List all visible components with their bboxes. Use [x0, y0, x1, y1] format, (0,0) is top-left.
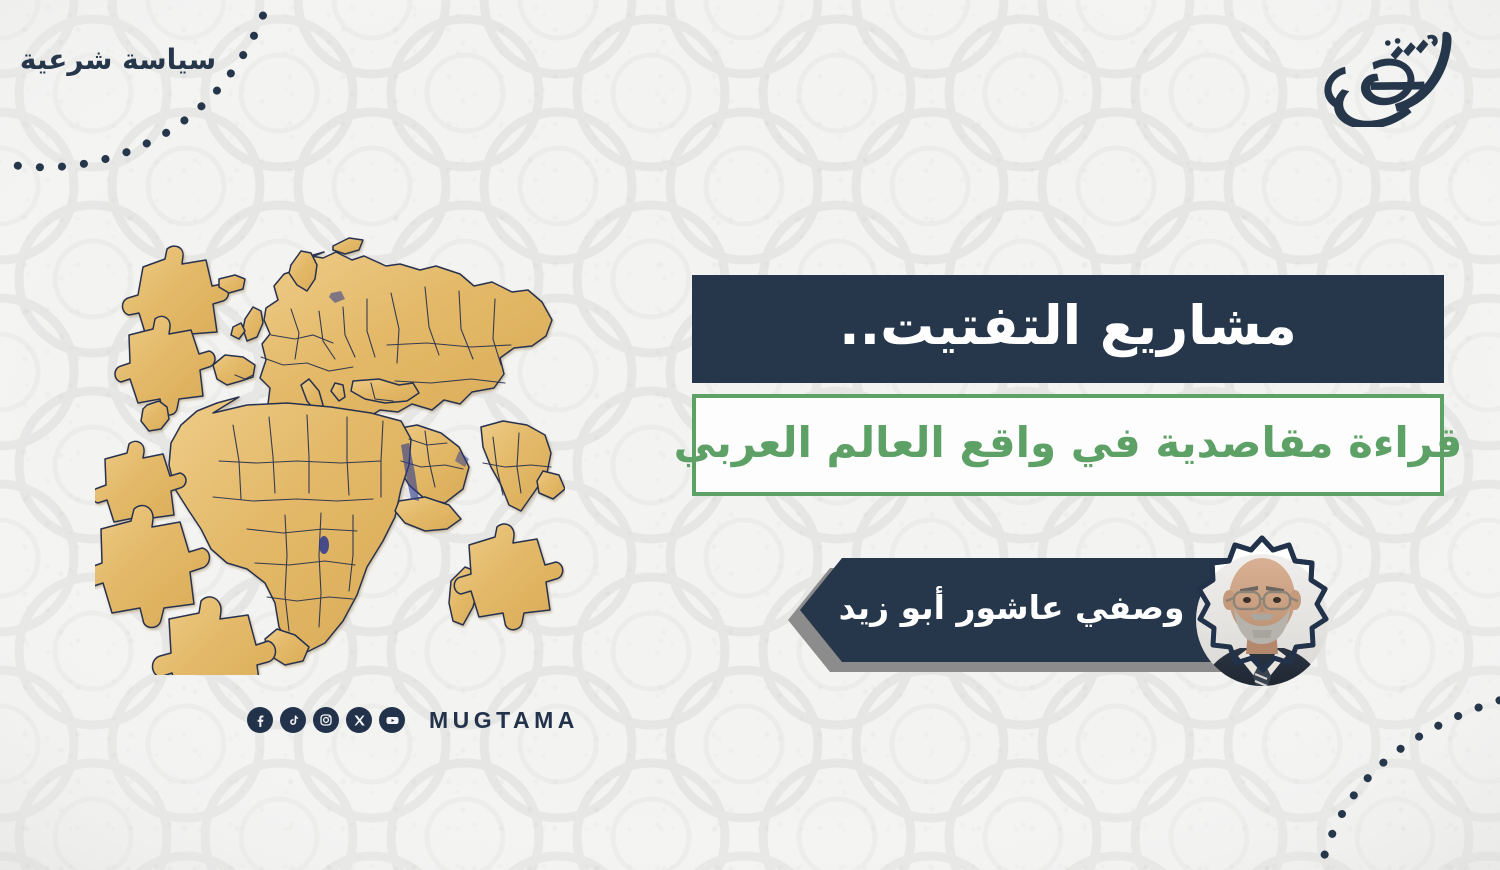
- x-twitter-icon[interactable]: [346, 707, 372, 733]
- author-credit-block: أ.د. وصفي عاشور أبو زيد: [788, 558, 1348, 708]
- facebook-icon[interactable]: [247, 707, 273, 733]
- fragmented-world-map: [95, 215, 565, 675]
- social-media-card: سياسة شرعية المجتمع: [0, 0, 1500, 870]
- author-photo: [1176, 534, 1348, 706]
- dotted-arc-top-left-icon: [0, 0, 296, 179]
- youtube-icon[interactable]: [379, 707, 405, 733]
- headline-stack: مشاريع التفتيت.. قراءة مقاصدية في واقع ا…: [692, 275, 1444, 496]
- article-subtitle-bar: قراءة مقاصدية في واقع العالم العربي: [692, 394, 1444, 496]
- social-links-strip[interactable]: MUGTAMA: [247, 703, 579, 737]
- instagram-icon[interactable]: [313, 707, 339, 733]
- article-title-bar: مشاريع التفتيت..: [692, 275, 1444, 383]
- tiktok-icon[interactable]: [280, 707, 306, 733]
- category-kicker-label: سياسة شرعية: [18, 46, 218, 74]
- brand-wordmark: MUGTAMA: [429, 709, 579, 732]
- page-title: مشاريع التفتيت..: [839, 299, 1297, 353]
- mugtama-calligraphy-logo[interactable]: المجتمع: [1322, 22, 1462, 127]
- page-subtitle: قراءة مقاصدية في واقع العالم العربي: [674, 422, 1463, 464]
